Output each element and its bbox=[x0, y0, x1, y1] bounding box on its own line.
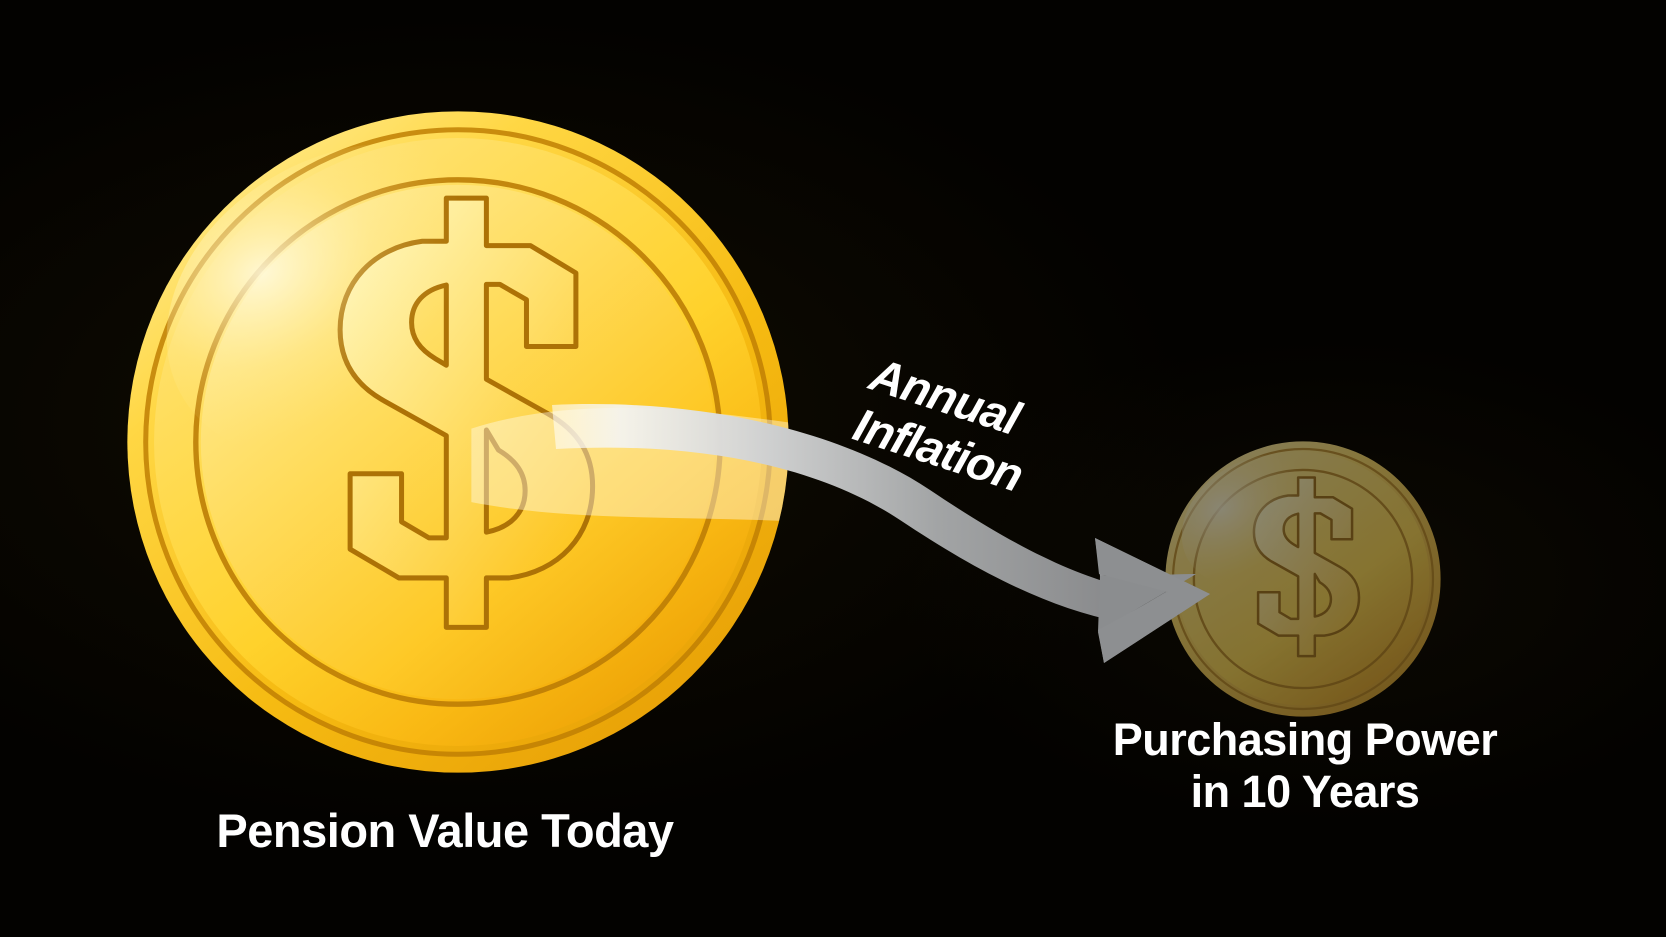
gold-coin-large-graphic bbox=[124, 108, 792, 776]
left-caption: Pension Value Today bbox=[0, 806, 890, 856]
gold-coin-small-faded bbox=[1164, 440, 1442, 718]
right-caption-line2: in 10 Years bbox=[1020, 768, 1590, 816]
gold-coin-large bbox=[124, 108, 792, 776]
diagram-canvas: Annual Inflation Pension Value Today Pur… bbox=[0, 0, 1666, 937]
arrow-label: Annual Inflation bbox=[847, 348, 1108, 522]
coin-light-band bbox=[471, 408, 792, 522]
gold-coin-small-graphic bbox=[1164, 440, 1442, 718]
right-caption-line1: Purchasing Power bbox=[1113, 714, 1498, 765]
right-caption: Purchasing Power in 10 Years bbox=[1020, 716, 1590, 815]
